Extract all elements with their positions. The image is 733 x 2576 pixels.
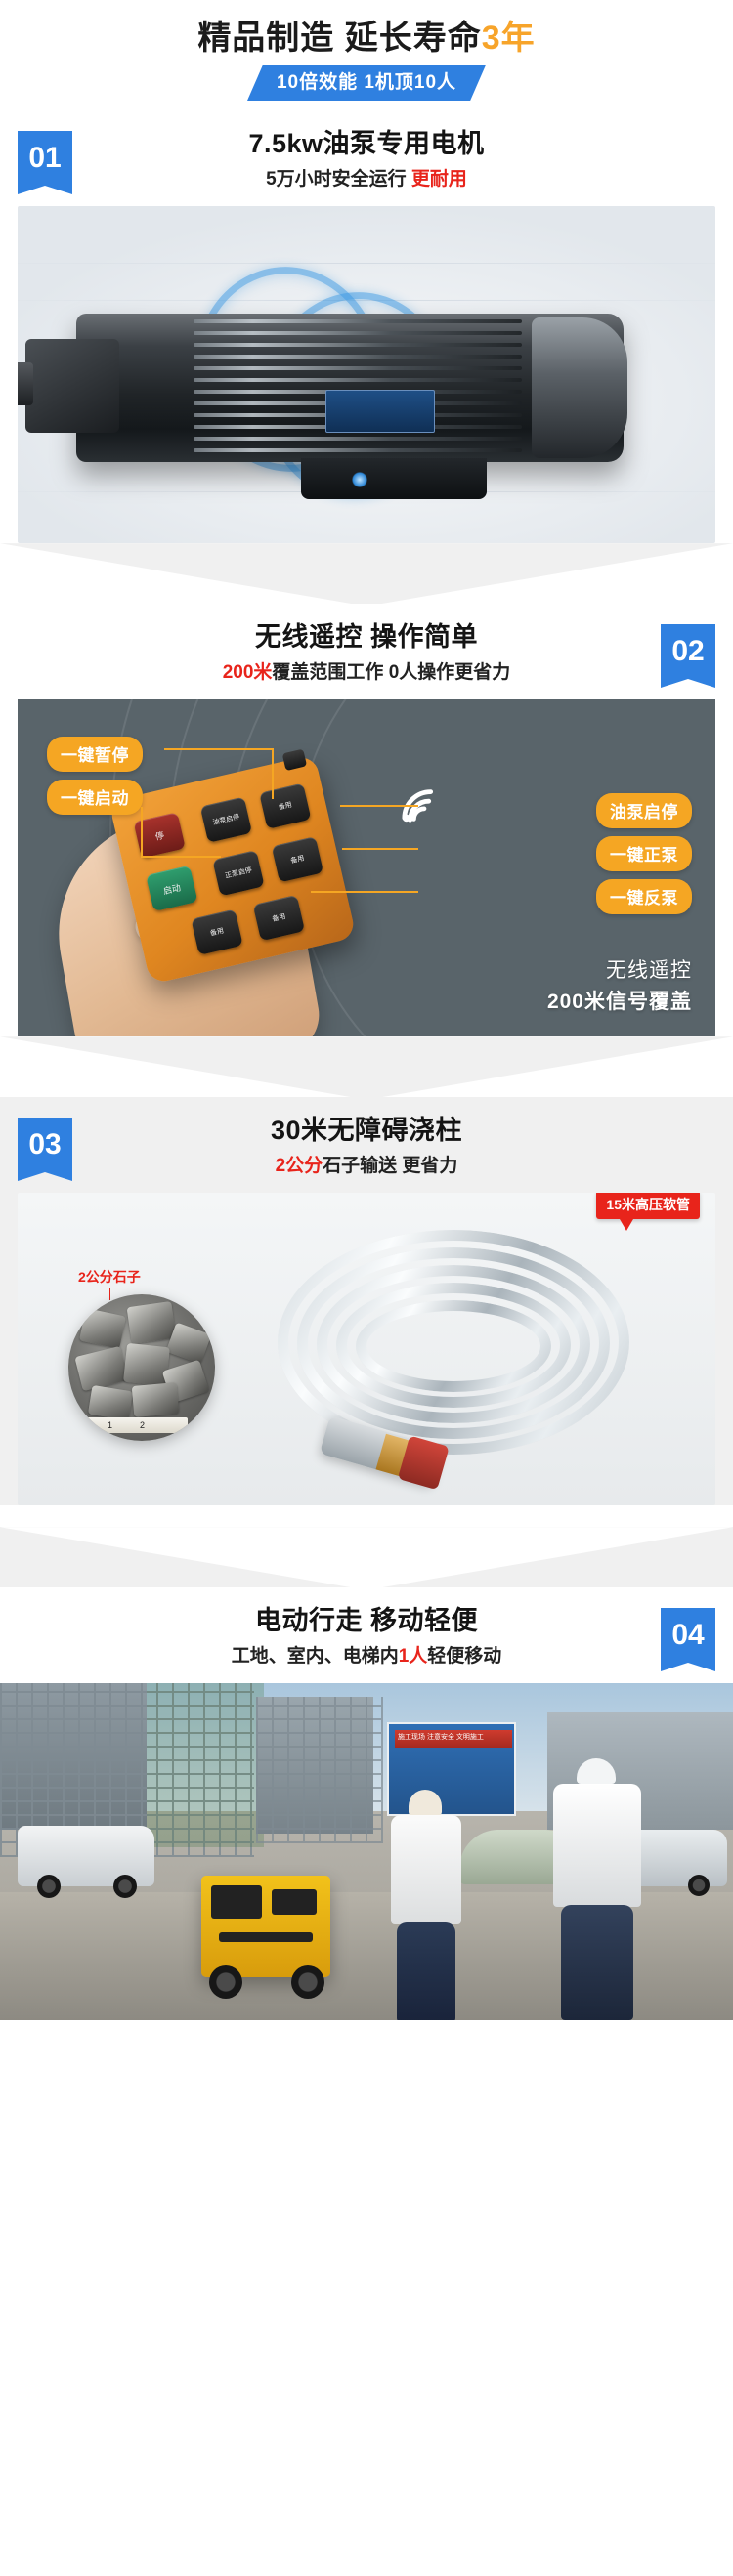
safety-helmet-icon <box>577 1758 616 1784</box>
section-01-subtitle: 5万小时安全运行 更耐用 <box>0 167 733 193</box>
section-03-head: 03 30米无障碍浇柱 2公分石子输送 更省力 <box>0 1097 733 1193</box>
motor-base-foot <box>301 458 487 499</box>
ruler-mark: 2 <box>140 1420 145 1430</box>
motor-cooling-fins <box>194 319 522 454</box>
motor-product-image <box>18 206 715 543</box>
section-04-badge: 04 <box>661 1608 715 1663</box>
callout-leader-line <box>272 748 274 799</box>
callout-leader-line <box>342 848 418 850</box>
page-title: 精品制造 延长寿命3年 <box>0 18 733 60</box>
product-detail-page: 精品制造 延长寿命3年 10倍效能 1机顶10人 01 7.5kw油泵专用电机 … <box>0 0 733 2020</box>
gravel-scale-ruler: 1 2 <box>86 1417 188 1433</box>
section-02: 02 无线遥控 操作简单 200米覆盖范围工作 0人操作更省力 <box>0 604 733 1036</box>
person-torso <box>391 1815 461 1924</box>
section-02-subtitle: 200米覆盖范围工作 0人操作更省力 <box>0 660 733 687</box>
person-legs <box>397 1922 455 2020</box>
machine-frame <box>219 1932 313 1942</box>
section-01-title: 7.5kw油泵专用电机 <box>0 126 733 161</box>
callout-reverse-pump: 一键反泵 <box>596 879 692 914</box>
callout-forward-pump: 一键正泵 <box>596 836 692 871</box>
person-torso <box>553 1784 641 1907</box>
header-ribbon-wrap: 10倍效能 1机顶10人 <box>0 65 733 102</box>
header-ribbon: 10倍效能 1机顶10人 <box>247 65 486 102</box>
section-03-subtitle: 2公分石子输送 更省力 <box>0 1154 733 1180</box>
section-04-head: 04 电动行走 移动轻便 工地、室内、电梯内1人轻便移动 <box>0 1587 733 1683</box>
section-03-badge: 03 <box>18 1118 72 1172</box>
chevron-divider-2 <box>0 1036 733 1097</box>
section-01-subtitle-red: 更耐用 <box>411 169 467 190</box>
callout-pump-toggle: 油泵启停 <box>596 793 692 828</box>
section-04-subtitle: 工地、室内、电梯内1人轻便移动 <box>0 1644 733 1670</box>
callout-start: 一键启动 <box>47 780 143 815</box>
section-03-title: 30米无障碍浇柱 <box>0 1113 733 1148</box>
remote-caption-line1: 无线遥控 <box>547 955 692 987</box>
worker-person <box>379 1786 473 2020</box>
section-02-title: 无线遥控 操作简单 <box>0 619 733 655</box>
callout-pause: 一键暂停 <box>47 737 143 772</box>
electric-concrete-pump-machine <box>201 1876 330 1977</box>
section-04-subtitle-pre: 工地、室内、电梯内 <box>232 1646 399 1667</box>
machine-motor <box>272 1889 317 1915</box>
motor-end-cap <box>532 317 627 458</box>
section-03-titles: 30米无障碍浇柱 2公分石子输送 更省力 <box>0 1113 733 1179</box>
callout-leader-line <box>311 891 418 893</box>
remote-key-spare[interactable]: 备用 <box>259 783 311 829</box>
remote-screw <box>282 749 307 771</box>
section-02-badge: 02 <box>661 624 715 679</box>
section-01-badge: 01 <box>18 131 72 186</box>
section-02-titles: 无线遥控 操作简单 200米覆盖范围工作 0人操作更省力 <box>0 619 733 686</box>
signboard-banner: 施工现场 注意安全 文明施工 <box>395 1730 512 1748</box>
callout-leader-line <box>141 856 221 858</box>
section-04-subtitle-red: 1人 <box>399 1646 428 1667</box>
page-title-highlight: 3年 <box>482 20 536 57</box>
section-04-subtitle-post: 轻便移动 <box>427 1646 501 1667</box>
ruler-mark: 1 <box>108 1420 112 1430</box>
section-04-title: 电动行走 移动轻便 <box>0 1603 733 1638</box>
hose-coil <box>238 1201 698 1494</box>
section-02-subtitle-red: 200米 <box>223 662 273 683</box>
parked-van <box>18 1826 154 1886</box>
safety-helmet-icon <box>409 1790 442 1817</box>
section-01-titles: 7.5kw油泵专用电机 5万小时安全运行 更耐用 <box>0 126 733 192</box>
section-01-head: 01 7.5kw油泵专用电机 5万小时安全运行 更耐用 <box>0 110 733 206</box>
section-01: 01 7.5kw油泵专用电机 5万小时安全运行 更耐用 <box>0 110 733 543</box>
page-title-main: 精品制造 延长寿命 <box>197 20 481 57</box>
motor-nameplate <box>325 390 435 433</box>
section-02-subtitle-plain: 覆盖范围工作 0人操作更省力 <box>272 662 510 683</box>
section-04: 04 电动行走 移动轻便 工地、室内、电梯内1人轻便移动 施工现场 注意安全 文… <box>0 1587 733 2020</box>
motor-housing <box>76 314 624 462</box>
remote-key-spare[interactable]: 备用 <box>191 909 242 955</box>
worker-person <box>543 1758 651 2020</box>
section-02-head: 02 无线遥控 操作简单 200米覆盖范围工作 0人操作更省力 <box>0 604 733 699</box>
construction-site-image: 施工现场 注意安全 文明施工 <box>0 1683 733 2020</box>
person-legs <box>561 1905 633 2020</box>
section-03-subtitle-red: 2公分 <box>276 1156 323 1176</box>
section-03: 03 30米无障碍浇柱 2公分石子输送 更省力 15米高压软管 <box>0 1097 733 1505</box>
section-03-subtitle-plain: 石子输送 更省力 <box>323 1156 457 1176</box>
gravel-sample-photo: 1 2 <box>68 1294 215 1441</box>
motor-gearbox <box>25 339 119 433</box>
remote-caption-line2: 200米信号覆盖 <box>547 987 692 1018</box>
scaffolding <box>256 1697 383 1843</box>
callout-leader-line <box>340 805 418 807</box>
section-01-subtitle-plain: 5万小时安全运行 <box>266 169 411 190</box>
remote-key-start[interactable]: 启动 <box>146 866 197 911</box>
chevron-divider-3 <box>0 1527 733 1587</box>
page-header: 精品制造 延长寿命3年 10倍效能 1机顶10人 <box>0 0 733 110</box>
callout-leader-line <box>141 807 143 858</box>
section-04-titles: 电动行走 移动轻便 工地、室内、电梯内1人轻便移动 <box>0 1603 733 1669</box>
chevron-divider-1 <box>0 543 733 604</box>
callout-leader-line <box>164 748 274 750</box>
remote-key-pump-toggle[interactable]: 油泵启停 <box>200 797 252 843</box>
remote-key-spare[interactable]: 备用 <box>272 836 323 882</box>
remote-control-image: 停 油泵启停 备用 启动 正泵启停 备用 备用 备用 一键暂停 一键启动 油泵启… <box>18 699 715 1036</box>
safety-net <box>147 1683 264 1847</box>
gravel-size-label: 2公分石子 <box>78 1267 141 1287</box>
remote-caption: 无线遥控 200米信号覆盖 <box>547 955 692 1017</box>
machine-hopper <box>211 1885 262 1919</box>
hose-gravel-image: 15米高压软管 2公分石子 <box>18 1193 715 1505</box>
remote-key-spare[interactable]: 备用 <box>253 895 305 941</box>
bg-streak <box>18 263 715 264</box>
